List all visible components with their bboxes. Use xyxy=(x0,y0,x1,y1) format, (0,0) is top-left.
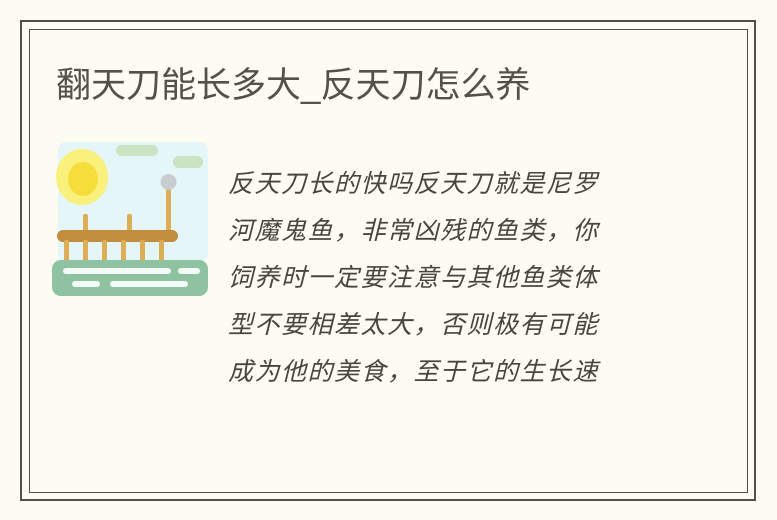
body-line: 成为他的美食，至于它的生长速 xyxy=(228,348,658,395)
article-content: 反天刀长的快吗反天刀就是尼罗 河魔鬼鱼，非常凶残的鱼类，你 饲养时一定要注意与其… xyxy=(52,142,712,432)
body-line: 饲养时一定要注意与其他鱼类体 xyxy=(228,254,658,301)
body-line: 反天刀长的快吗反天刀就是尼罗 xyxy=(228,160,658,207)
page-title: 翻天刀能长多大_反天刀怎么养 xyxy=(56,64,706,108)
article-body: 反天刀长的快吗反天刀就是尼罗 河魔鬼鱼，非常凶残的鱼类，你 饲养时一定要注意与其… xyxy=(228,160,658,395)
body-line: 型不要相差太大，否则极有可能 xyxy=(228,301,658,348)
body-line: 河魔鬼鱼，非常凶残的鱼类，你 xyxy=(228,207,658,254)
pier-scene-illustration xyxy=(52,142,208,296)
article-page: 翻天刀能长多大_反天刀怎么养 xyxy=(0,0,777,520)
